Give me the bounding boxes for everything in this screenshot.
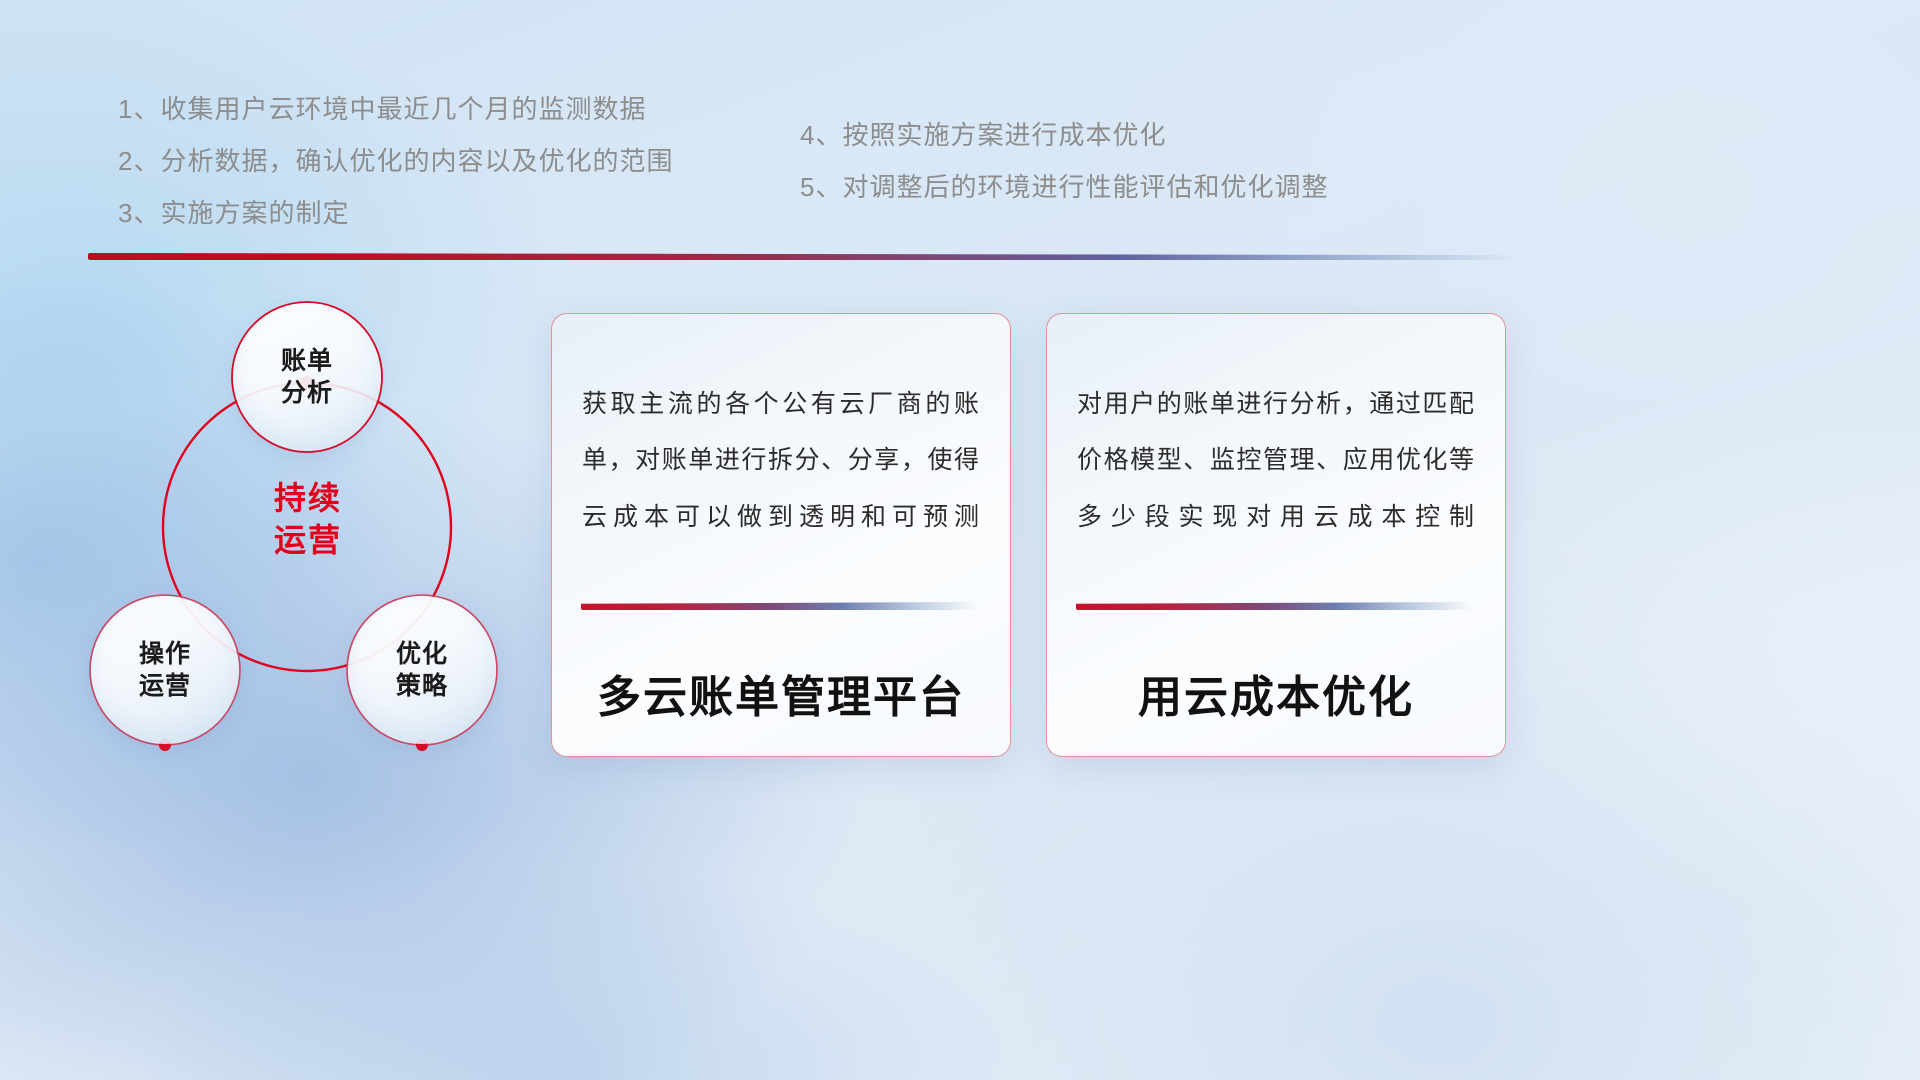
diagram-center-label-line1: 持续 xyxy=(238,478,378,520)
steps-section: 1、收集用户云环境中最近几个月的监测数据 2、分析数据，确认优化的内容以及优化的… xyxy=(0,0,1920,260)
step-item-1: 1、收集用户云环境中最近几个月的监测数据 xyxy=(118,96,673,122)
continuous-operation-diagram: 账单分析 操作运营 优化策略 持续 运营 xyxy=(78,286,548,766)
card-2-divider xyxy=(1076,602,1472,610)
bubble-optimization-strategy-label: 优化策略 xyxy=(396,638,448,702)
diagram-center-label: 持续 运营 xyxy=(238,478,378,561)
card-1-body-text: 获取主流的各个公有云厂商的账单，对账单进行拆分、分享，使得云成本可以做到透明和可… xyxy=(582,376,980,545)
diagram-center-label-line2: 运营 xyxy=(238,520,378,562)
bubble-optimization-strategy[interactable]: 优化策略 xyxy=(348,596,496,744)
step-item-2: 2、分析数据，确认优化的内容以及优化的范围 xyxy=(118,148,673,174)
card-multi-cloud-bill-platform[interactable]: 获取主流的各个公有云厂商的账单，对账单进行拆分、分享，使得云成本可以做到透明和可… xyxy=(551,313,1011,757)
bubble-bill-analysis[interactable]: 账单分析 xyxy=(233,303,381,451)
card-2-title: 用云成本优化 xyxy=(1076,661,1476,725)
step-item-3: 3、实施方案的制定 xyxy=(118,200,673,226)
bubble-operation-label: 操作运营 xyxy=(139,638,191,702)
bubble-operation[interactable]: 操作运营 xyxy=(91,596,239,744)
step-item-5: 5、对调整后的环境进行性能评估和优化调整 xyxy=(800,174,1328,200)
card-1-divider xyxy=(581,602,977,610)
card-1-title: 多云账单管理平台 xyxy=(581,661,981,725)
steps-right-column: 4、按照实施方案进行成本优化 5、对调整后的环境进行性能评估和优化调整 xyxy=(800,122,1328,226)
bubble-bill-analysis-label: 账单分析 xyxy=(281,345,333,409)
card-2-body-text: 对用户的账单进行分析，通过匹配价格模型、监控管理、应用优化等多少段实现对用云成本… xyxy=(1077,376,1475,545)
step-item-4: 4、按照实施方案进行成本优化 xyxy=(800,122,1328,148)
card-cloud-cost-optimization[interactable]: 对用户的账单进行分析，通过匹配价格模型、监控管理、应用优化等多少段实现对用云成本… xyxy=(1046,313,1506,757)
steps-left-column: 1、收集用户云环境中最近几个月的监测数据 2、分析数据，确认优化的内容以及优化的… xyxy=(118,96,673,252)
